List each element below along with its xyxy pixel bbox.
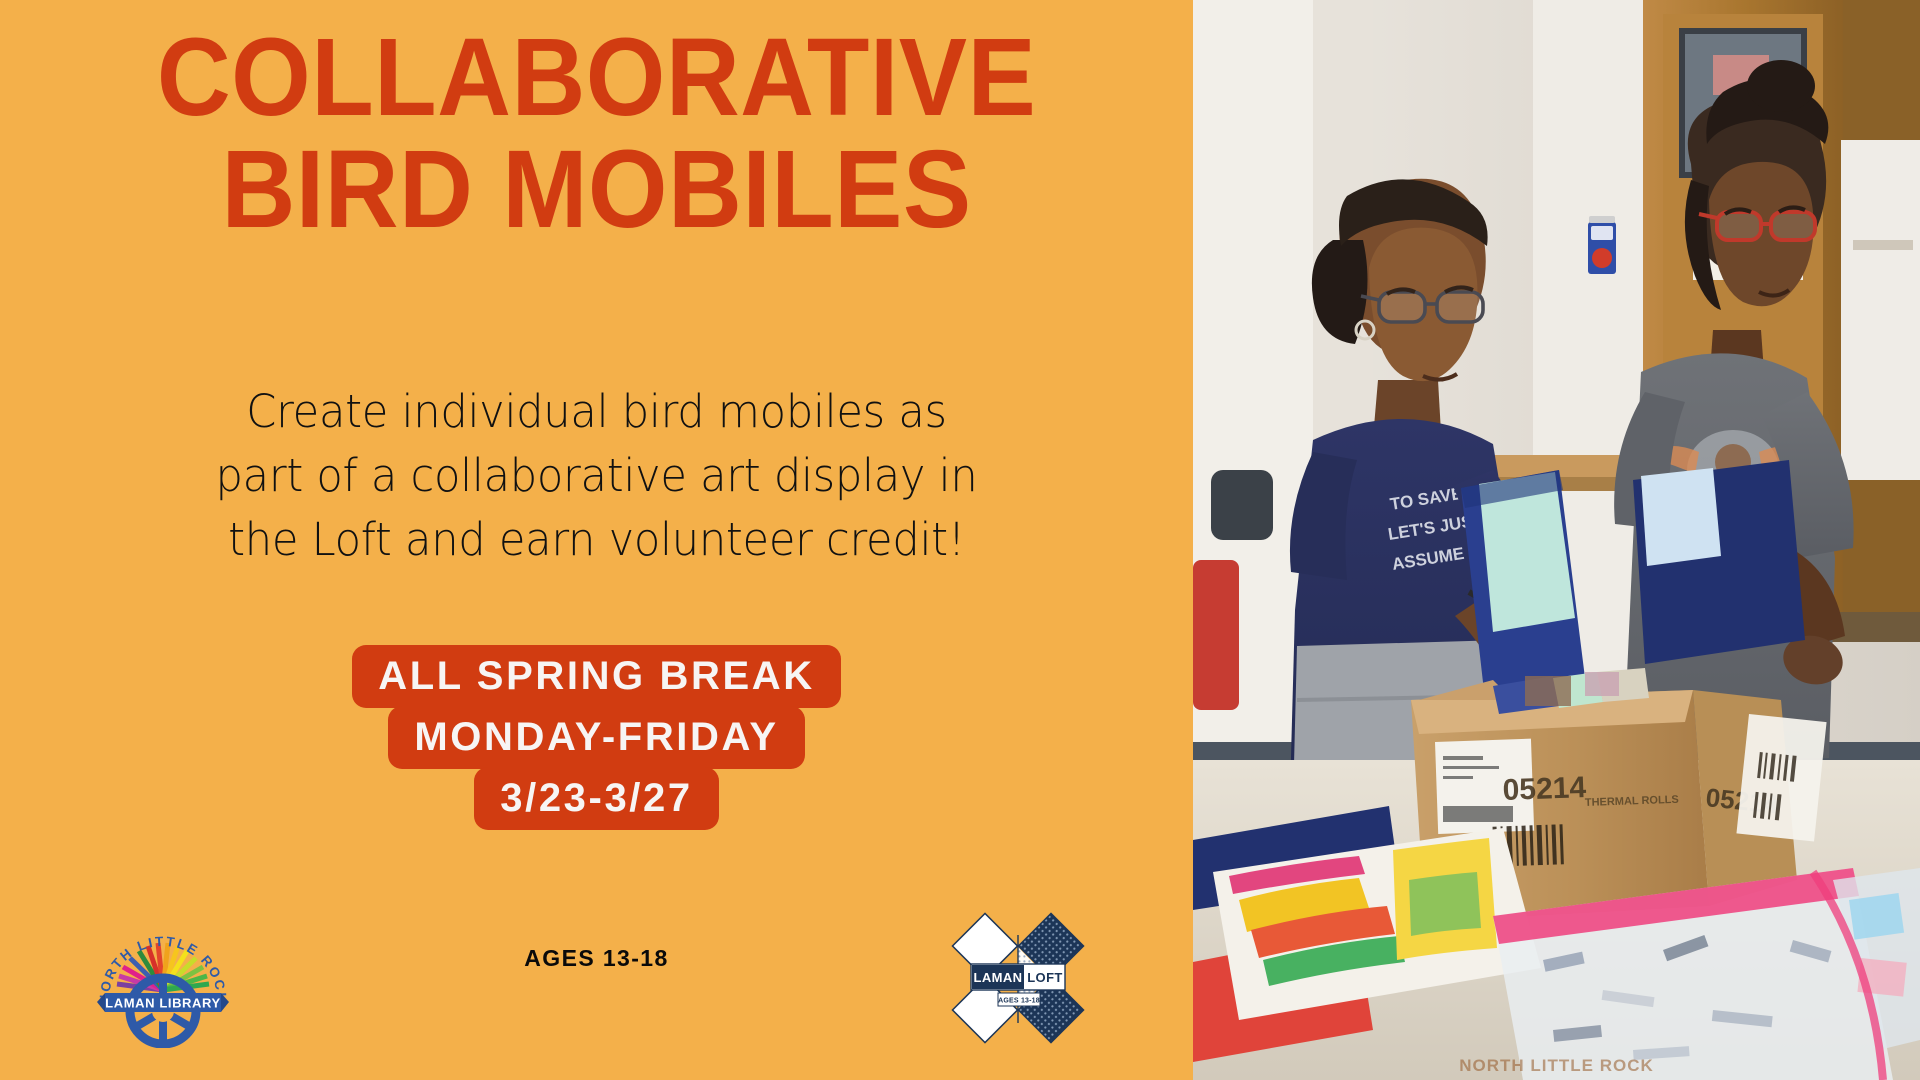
headline-line-2: BIRD MOBILES (42, 134, 1151, 246)
schedule-badge-line-2: MONDAY-FRIDAY (388, 706, 804, 769)
box-label-left: 05214 (1502, 771, 1587, 807)
event-photo: TO SAVE TIME LET'S JUST ASSUME I KNOW (1193, 0, 1920, 1080)
laman-library-logo-icon: NORTH LITTLE ROCK LAMAN LIBRAR (93, 908, 233, 1048)
loft-logo-word-right: LOFT (1027, 970, 1063, 985)
schedule-badge-row-1: ALL SPRING BREAK (0, 645, 1193, 706)
loft-logo-word-left: LAMAN (974, 970, 1023, 985)
loft-logo-sub-label: AGES 13-18 (998, 998, 1040, 1005)
description-line-3: the Loft and earn volunteer credit! (24, 508, 1169, 572)
page-title: COLLABORATIVE BIRD MOBILES (42, 22, 1151, 246)
library-logo-banner-text: LAMAN LIBRARY (105, 996, 221, 1011)
schedule-badge-line-1: ALL SPRING BREAK (352, 645, 840, 708)
laman-loft-logo-icon: LAMAN LOFT AGES 13-18 (948, 905, 1088, 1050)
description-text: Create individual bird mobiles as part o… (24, 380, 1169, 572)
schedule-badge-row-2: MONDAY-FRIDAY (0, 706, 1193, 767)
schedule-badge-line-3: 3/23-3/27 (474, 767, 718, 830)
left-content-panel: COLLABORATIVE BIRD MOBILES Create indivi… (0, 0, 1193, 1080)
schedule-badge-row-3: 3/23-3/27 (0, 767, 1193, 828)
poster-canvas: COLLABORATIVE BIRD MOBILES Create indivi… (0, 0, 1920, 1080)
description-line-2: part of a collaborative art display in (24, 444, 1169, 508)
schedule-badge: ALL SPRING BREAK MONDAY-FRIDAY 3/23-3/27 (0, 645, 1193, 828)
description-line-1: Create individual bird mobiles as (24, 380, 1169, 444)
headline-line-1: COLLABORATIVE (42, 22, 1151, 134)
